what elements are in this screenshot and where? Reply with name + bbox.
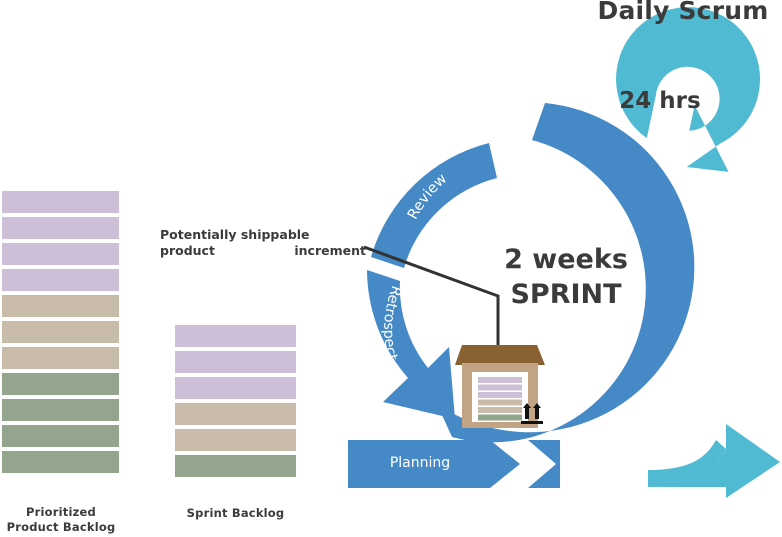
increment-box-item [478,385,522,391]
increment-box-icon [455,345,545,428]
increment-box-item [478,400,522,406]
increment-caption-line2: increment [160,243,366,259]
output-arrow [648,424,780,498]
increment-box-item [478,415,522,421]
increment-box-item [478,407,522,413]
sprint-label: SPRINT [470,277,662,313]
scrum-diagram: Prioritized Product Backlog Sprint Backl… [0,0,782,537]
retrospect-arrow [367,270,455,419]
daily-scrum-title: Daily Scrum [585,0,781,25]
planning-label: Planning [345,455,495,471]
increment-box-item [478,377,522,383]
increment-box-item [478,392,522,398]
daily-scrum-duration: 24 hrs [600,88,720,114]
sprint-duration: 2 weeks [470,242,662,278]
